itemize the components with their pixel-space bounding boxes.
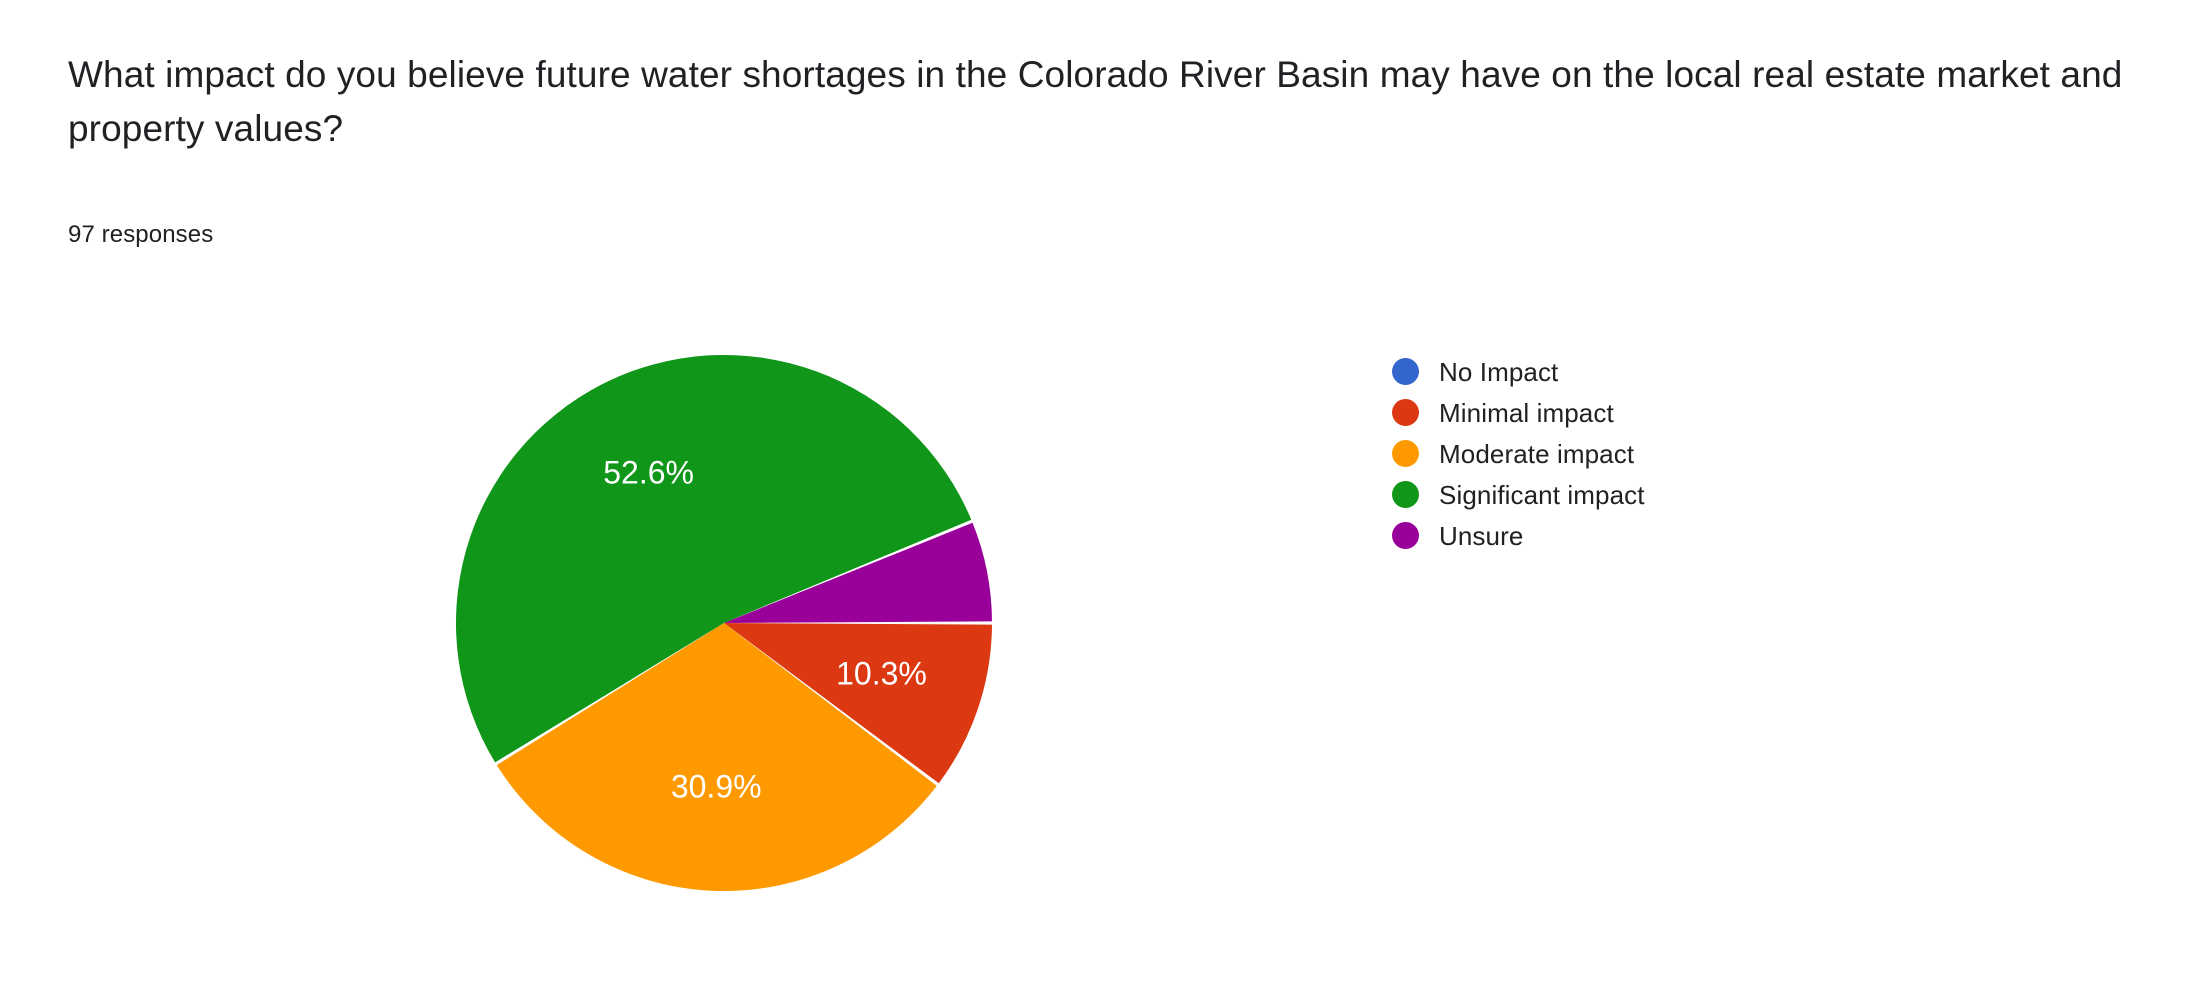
legend-item-label: Minimal impact (1439, 398, 1614, 428)
legend-color-swatch-icon (1392, 440, 1419, 467)
legend-color-swatch-icon (1392, 399, 1419, 426)
pie-chart: 10.3%30.9%52.6% (454, 353, 994, 893)
legend-item-label: Moderate impact (1439, 439, 1634, 469)
legend-item-label: No Impact (1439, 357, 1558, 387)
legend-item[interactable]: No Impact (1392, 351, 1992, 392)
legend-item[interactable]: Minimal impact (1392, 392, 1992, 433)
pie-slice-percent-label: 52.6% (603, 454, 694, 490)
legend-item[interactable]: Moderate impact (1392, 433, 1992, 474)
legend-item[interactable]: Unsure (1392, 515, 1992, 556)
response-count-label: 97 responses (68, 219, 213, 251)
pie-slice-percent-label: 10.3% (836, 655, 927, 691)
legend-color-swatch-icon (1392, 358, 1419, 385)
legend-item[interactable]: Significant impact (1392, 474, 1992, 515)
pie-slice-group (456, 355, 992, 891)
pie-slice-percent-label: 30.9% (671, 768, 762, 804)
legend-item-label: Significant impact (1439, 480, 1645, 510)
page-title: What impact do you believe future water … (68, 48, 2128, 156)
legend-item-label: Unsure (1439, 521, 1523, 551)
pie-chart-svg: 10.3%30.9%52.6% (454, 353, 994, 893)
pie-chart-card: What impact do you believe future water … (0, 0, 2196, 996)
legend-color-swatch-icon (1392, 481, 1419, 508)
chart-legend: No ImpactMinimal impactModerate impactSi… (1392, 351, 1992, 556)
legend-color-swatch-icon (1392, 522, 1419, 549)
